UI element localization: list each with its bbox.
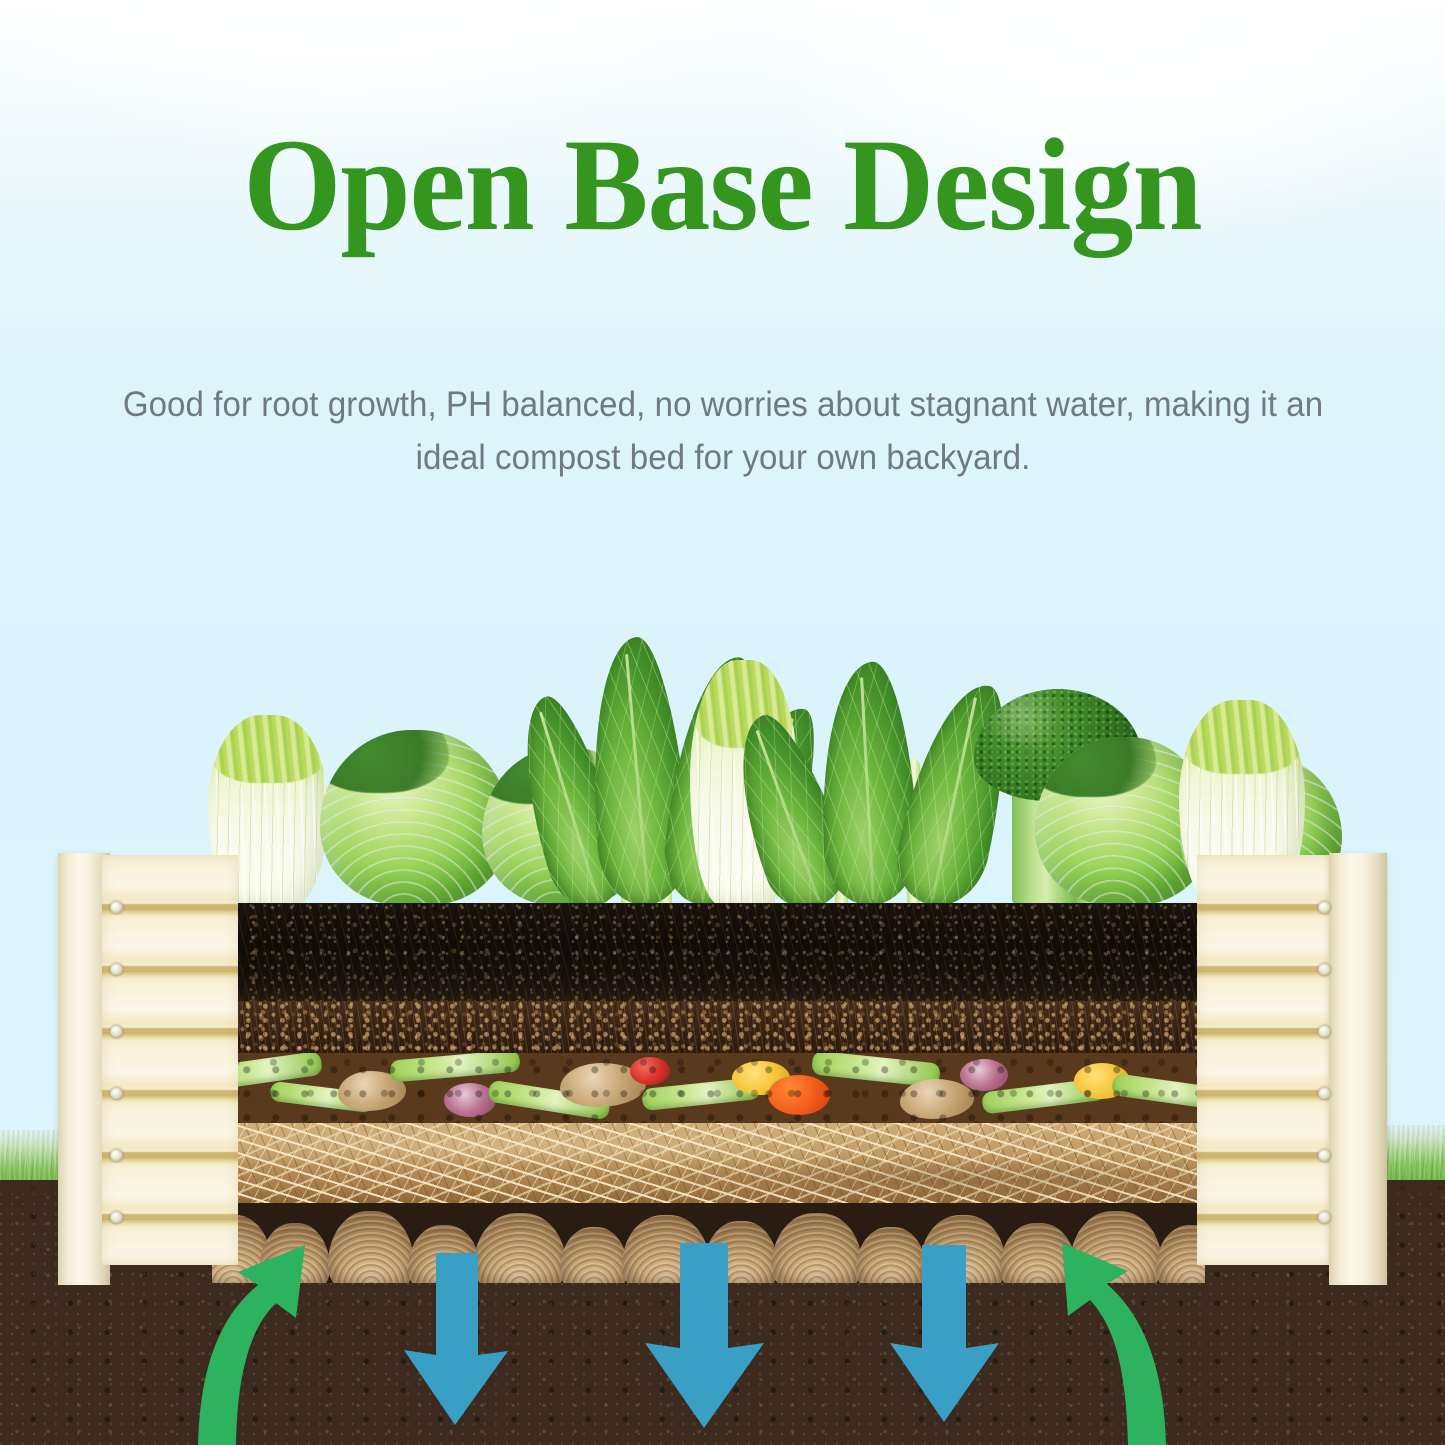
kitchen-scraps-layer — [212, 1053, 1205, 1123]
scrap-potato-peel — [900, 1079, 974, 1119]
page-title: Open Base Design — [33, 118, 1413, 253]
log-end — [560, 1227, 628, 1283]
log-end — [856, 1227, 926, 1283]
vegetable-bok-choy — [775, 630, 990, 905]
panel-screw — [110, 963, 123, 976]
scrap-pepper-piece — [768, 1075, 830, 1115]
panel-screw — [110, 1211, 123, 1224]
log-end — [1000, 1223, 1076, 1283]
brown-compost-layer — [212, 1001, 1205, 1053]
slat-stack-right — [1197, 855, 1337, 1265]
panel-screw — [110, 1087, 123, 1100]
scrap-celery-stem — [1111, 1073, 1205, 1111]
panel-screw — [1318, 1025, 1331, 1038]
log-end — [260, 1223, 330, 1283]
panel-screw — [1318, 1211, 1331, 1224]
scrap-celery-stem — [389, 1053, 520, 1083]
panel-screw — [110, 1149, 123, 1162]
log-end — [920, 1215, 1006, 1283]
log-end — [474, 1213, 566, 1283]
page-subtitle: Good for root growth, PH balanced, no wo… — [104, 378, 1341, 485]
panel-screw — [1318, 963, 1331, 976]
bed-cross-section — [212, 903, 1205, 1283]
dark-topsoil-layer — [212, 903, 1205, 1001]
vegetable-row — [190, 575, 1305, 905]
panel-screw — [1318, 1087, 1331, 1100]
corner-post-right — [1329, 853, 1387, 1285]
log-end — [1070, 1211, 1162, 1283]
panel-screw — [1318, 1149, 1331, 1162]
panel-screw — [1318, 901, 1331, 914]
straw-mulch-layer — [212, 1123, 1205, 1203]
log-end — [772, 1213, 862, 1283]
planter-panel-left — [58, 855, 238, 1265]
slat-stack-left — [102, 855, 238, 1265]
scrap-onion-skin — [960, 1059, 1008, 1091]
panel-screw — [110, 901, 123, 914]
planter-panel-right — [1197, 855, 1387, 1265]
scrap-tomato-piece — [630, 1057, 670, 1085]
panel-screw — [110, 1025, 123, 1038]
log-end — [328, 1211, 414, 1283]
log-end — [622, 1215, 710, 1283]
infographic-canvas: Open Base Design Good for root growth, P… — [0, 0, 1445, 1445]
log-end — [408, 1225, 480, 1283]
log-end — [704, 1221, 778, 1283]
log-base-layer — [212, 1203, 1205, 1283]
